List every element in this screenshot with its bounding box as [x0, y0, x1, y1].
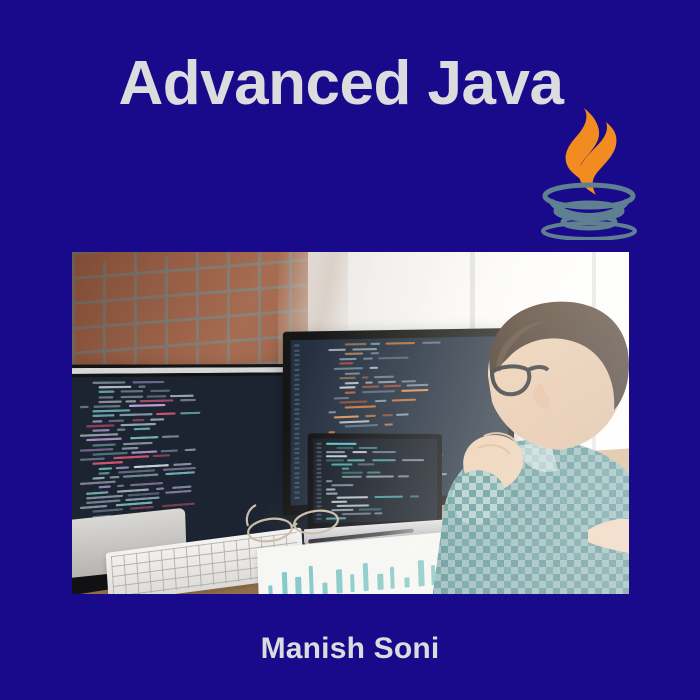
- chart-bar: [363, 563, 369, 591]
- java-cup-icon: [543, 185, 635, 239]
- chart-bar: [323, 582, 328, 594]
- chart-bar: [377, 574, 384, 590]
- author-name: Manish Soni: [0, 630, 700, 668]
- chart-bar: [268, 585, 272, 594]
- chart-bar: [295, 577, 302, 594]
- book-cover: Advanced Java: [0, 0, 700, 700]
- eyeglasses-icon: [242, 500, 350, 546]
- chart-bar: [350, 574, 355, 592]
- cover-photo: [72, 252, 629, 594]
- chart-bar: [281, 572, 287, 594]
- person-developer: [392, 280, 629, 594]
- chart-bar: [309, 566, 314, 594]
- chart-bar: [336, 569, 343, 593]
- java-steam-icon: [566, 108, 617, 195]
- java-logo: [528, 104, 650, 240]
